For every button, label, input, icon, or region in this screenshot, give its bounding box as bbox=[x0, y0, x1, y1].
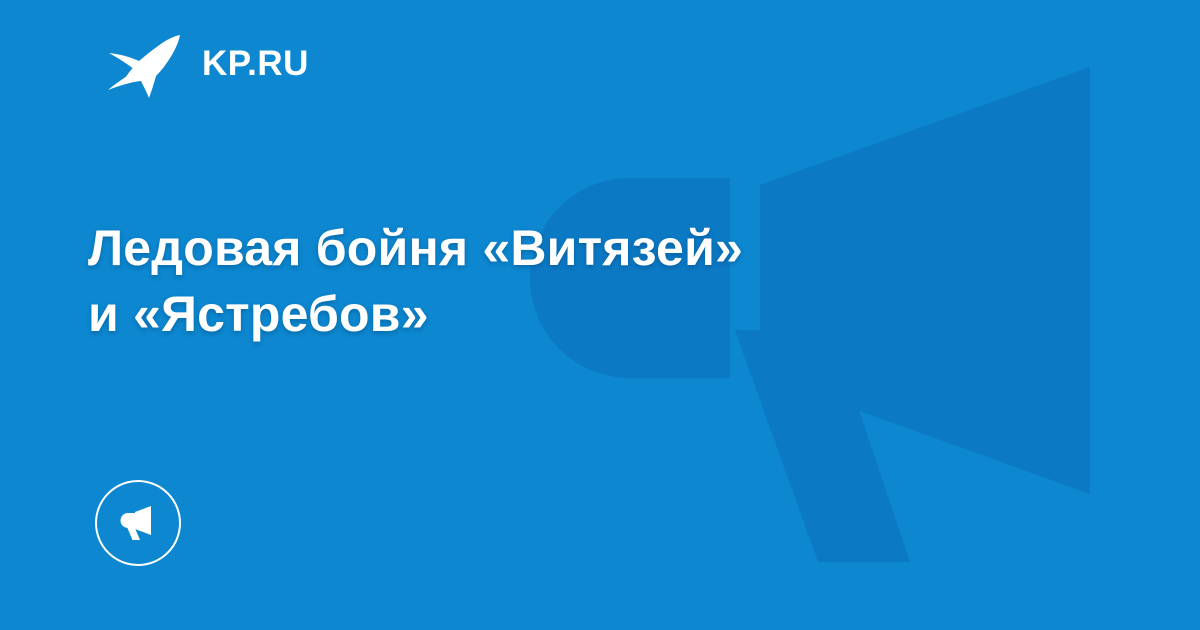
page-title: Ледовая бойня «Витязей» и «Ястребов» bbox=[88, 215, 948, 347]
megaphone-icon bbox=[115, 500, 161, 546]
brand-lockup[interactable]: KP.RU bbox=[104, 33, 309, 95]
swallow-bird-icon bbox=[104, 30, 184, 98]
brand-name: KP.RU bbox=[202, 46, 309, 83]
share-card: KP.RU Ледовая бойня «Витязей» и «Ястребо… bbox=[0, 0, 1200, 630]
megaphone-badge[interactable] bbox=[95, 480, 181, 566]
